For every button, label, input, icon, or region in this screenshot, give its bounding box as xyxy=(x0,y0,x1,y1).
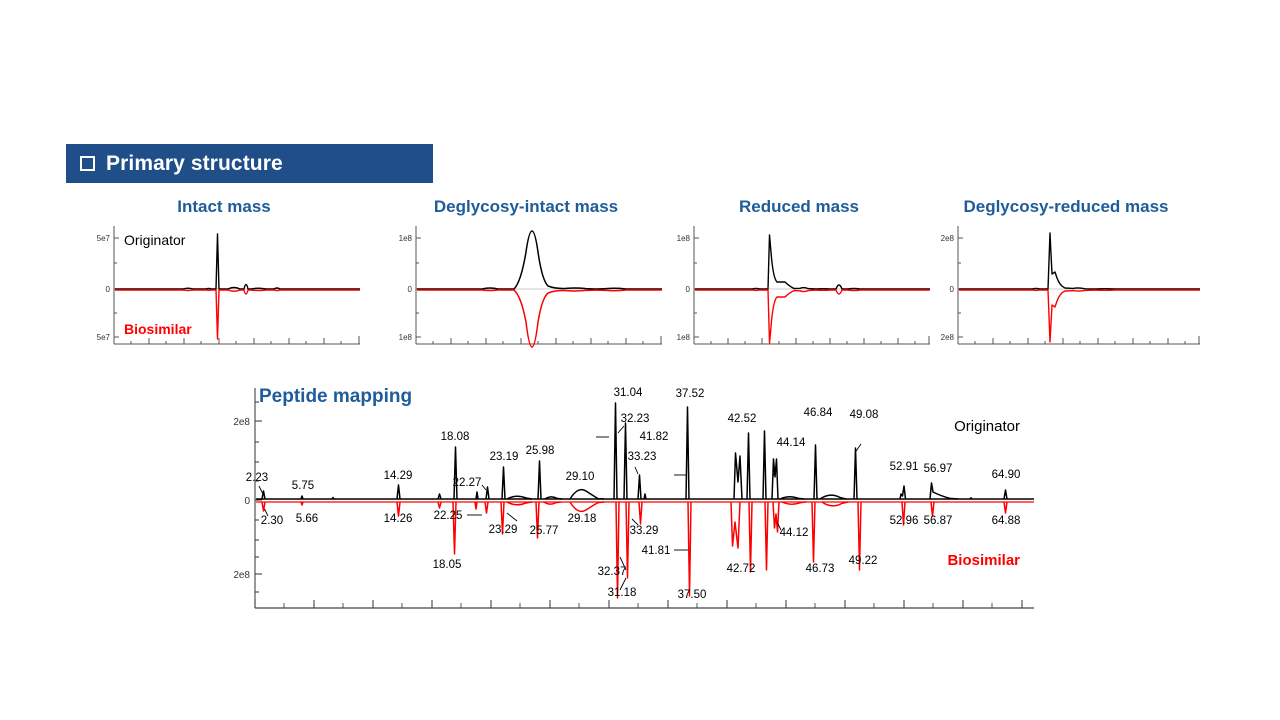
legend-originator-intact: Originator xyxy=(124,232,185,248)
ytick-zero: 0 xyxy=(106,285,111,294)
peak-label: 5.75 xyxy=(292,480,314,492)
ytick-bottom: 1e8 xyxy=(677,333,691,342)
peak-label: 49.22 xyxy=(849,555,878,567)
peak-label: 41.81 xyxy=(642,545,671,557)
mass-panel-reduced-mass: Reduced mass 1e8 0 1e8 xyxy=(668,196,930,366)
ytick-zero: 0 xyxy=(244,496,250,507)
square-bullet-icon xyxy=(80,156,95,171)
section-banner: Primary structure xyxy=(66,144,433,183)
slide-canvas: Primary structure Intact mass 5e7 0 5e7 xyxy=(0,0,1280,720)
ytick-top: 1e8 xyxy=(677,234,691,243)
peak-label: 49.08 xyxy=(850,409,879,421)
panel-title-reduced-mass: Reduced mass xyxy=(668,196,930,218)
legend-originator-peptide: Originator xyxy=(954,418,1020,435)
peak-label: 18.08 xyxy=(441,431,470,443)
peak-label: 33.29 xyxy=(630,525,659,537)
plot-reduced-mass: 1e8 0 1e8 xyxy=(668,222,930,356)
mass-panel-deglycosy-reduced-mass: Deglycosy-reduced mass 2e8 0 2e8 xyxy=(932,196,1200,366)
panel-title-deglycosy-reduced-mass: Deglycosy-reduced mass xyxy=(932,196,1200,218)
peak-label: 22.27 xyxy=(453,477,482,489)
peak-label: 46.84 xyxy=(804,407,833,419)
peak-label: 25.98 xyxy=(526,445,555,457)
mass-panel-intact-mass: Intact mass 5e7 0 5e7 xyxy=(88,196,360,366)
ytick-bottom: 1e8 xyxy=(399,333,413,342)
ytick-bottom: 2e8 xyxy=(941,333,955,342)
peak-label: 31.18 xyxy=(608,587,637,599)
plot-peptide-mapping: 2e8 0 2e8 xyxy=(214,382,1044,622)
ytick-top: 1e8 xyxy=(399,234,413,243)
ytick-top: 2e8 xyxy=(941,234,955,243)
peak-label: 52.91 xyxy=(890,461,919,473)
peak-label: 2.30 xyxy=(261,515,283,527)
peak-label: 29.10 xyxy=(566,471,595,483)
ytick-top: 2e8 xyxy=(233,417,250,428)
peak-label: 14.26 xyxy=(384,513,413,525)
peak-label: 33.23 xyxy=(628,451,657,463)
panel-title-deglycosy-intact-mass: Deglycosy-intact mass xyxy=(390,196,662,218)
page-title: Primary structure xyxy=(106,152,283,176)
mass-panel-deglycosy-intact-mass: Deglycosy-intact mass 1e8 0 1e8 xyxy=(390,196,662,366)
peak-label: 44.12 xyxy=(780,527,809,539)
peak-label: 23.19 xyxy=(490,451,519,463)
peak-label: 37.50 xyxy=(678,589,707,601)
peak-label: 2.23 xyxy=(246,472,268,484)
ytick-zero: 0 xyxy=(408,285,413,294)
peak-label: 22.25 xyxy=(434,510,463,522)
peak-label: 32.23 xyxy=(621,413,650,425)
panel-title-intact-mass: Intact mass xyxy=(88,196,360,218)
peak-label: 42.72 xyxy=(727,563,756,575)
ytick-zero: 0 xyxy=(686,285,691,294)
peak-label: 29.18 xyxy=(568,513,597,525)
peak-label: 56.97 xyxy=(924,463,953,475)
plot-deglycosy-reduced-mass: 2e8 0 2e8 xyxy=(932,222,1200,356)
peak-label: 14.29 xyxy=(384,470,413,482)
peak-label: 31.04 xyxy=(614,387,643,399)
peak-label: 46.73 xyxy=(806,563,835,575)
peak-label: 56.87 xyxy=(924,515,953,527)
ytick-bottom: 5e7 xyxy=(97,333,111,342)
peak-label: 18.05 xyxy=(433,559,462,571)
ytick-top: 5e7 xyxy=(97,234,111,243)
plot-deglycosy-intact-mass: 1e8 0 1e8 xyxy=(390,222,662,356)
peak-label: 25.77 xyxy=(530,525,559,537)
peak-label: 23.29 xyxy=(489,524,518,536)
legend-biosimilar-peptide: Biosimilar xyxy=(947,552,1020,569)
ytick-bottom: 2e8 xyxy=(233,570,250,581)
peak-label: 32.37 xyxy=(598,566,627,578)
ytick-zero: 0 xyxy=(950,285,955,294)
peak-label: 52.96 xyxy=(890,515,919,527)
peak-label: 41.82 xyxy=(640,431,669,443)
peak-label: 64.88 xyxy=(992,515,1021,527)
peak-label: 5.66 xyxy=(296,513,318,525)
peak-label: 64.90 xyxy=(992,469,1021,481)
peak-label: 37.52 xyxy=(676,388,705,400)
peak-label: 44.14 xyxy=(777,437,806,449)
legend-biosimilar-intact: Biosimilar xyxy=(124,321,192,337)
peptide-mapping-panel: Peptide mapping 2e8 0 2e8 xyxy=(214,382,1044,622)
peak-label: 42.52 xyxy=(728,413,757,425)
